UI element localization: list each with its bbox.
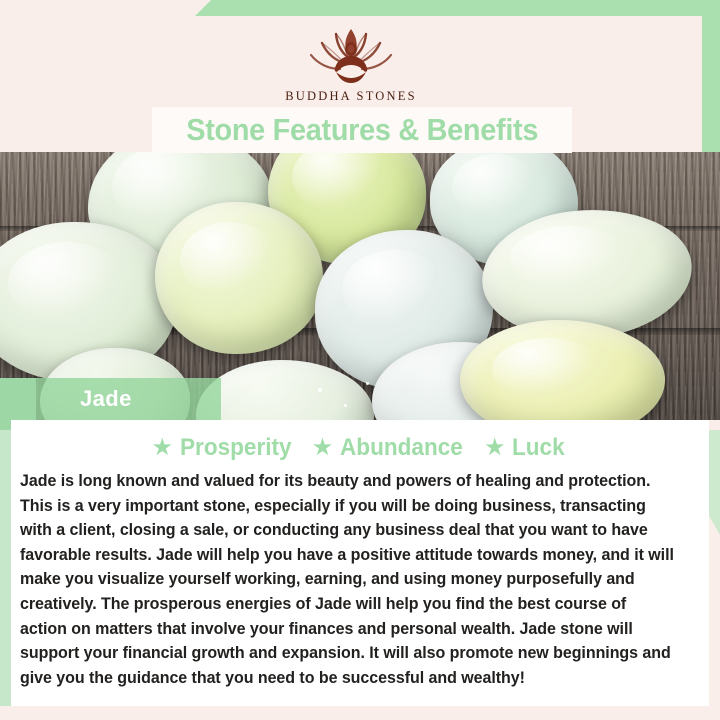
feature-item-luck: ★ Luck bbox=[484, 434, 569, 462]
star-icon: ★ bbox=[484, 436, 506, 460]
content-panel: ★ Prosperity ★ Abundance ★ Luck Jade is … bbox=[11, 420, 709, 720]
star-icon: ★ bbox=[312, 436, 334, 460]
lotus-meditation-figure-icon bbox=[303, 24, 399, 86]
feature-list: ★ Prosperity ★ Abundance ★ Luck bbox=[11, 420, 709, 462]
title-banner: Stone Features & Benefits bbox=[152, 107, 572, 153]
feature-item-abundance: ★ Abundance bbox=[312, 434, 471, 462]
star-icon: ★ bbox=[152, 436, 174, 460]
bottom-background-strip bbox=[0, 706, 720, 720]
page-title: Stone Features & Benefits bbox=[186, 112, 538, 148]
brand-logo: BUDDHA STONES bbox=[285, 24, 417, 104]
feature-label: Abundance bbox=[340, 434, 463, 462]
body-paragraph: Jade is long known and valued for its be… bbox=[20, 469, 676, 690]
feature-label: Prosperity bbox=[180, 434, 292, 462]
brand-name: BUDDHA STONES bbox=[285, 89, 417, 104]
left-green-accent-strip bbox=[0, 425, 11, 720]
stone-name-label: Jade bbox=[80, 386, 132, 412]
feature-item-prosperity: ★ Prosperity bbox=[152, 434, 299, 462]
top-green-accent-bar bbox=[195, 0, 720, 16]
right-green-accent-bar bbox=[702, 0, 720, 152]
photo-caption-banner: Jade bbox=[36, 378, 221, 420]
feature-label: Luck bbox=[512, 434, 565, 462]
